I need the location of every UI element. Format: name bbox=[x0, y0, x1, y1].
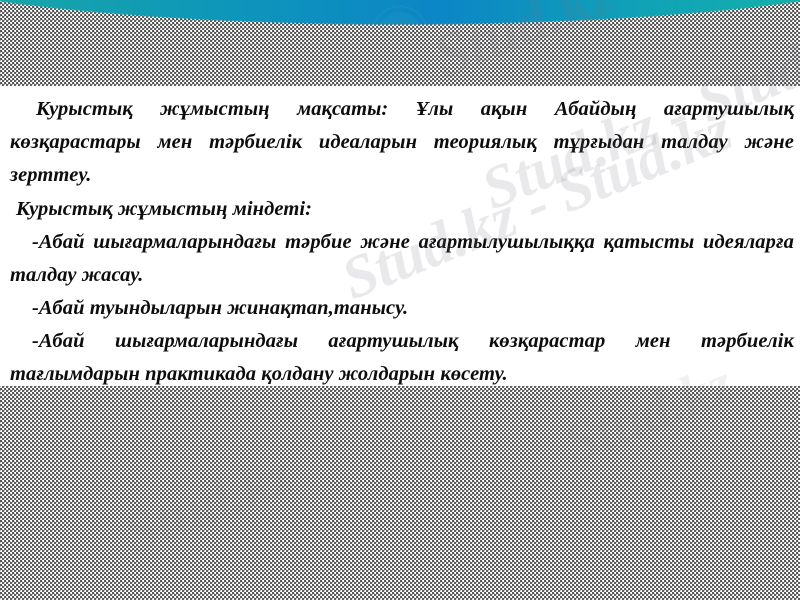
slide-canvas: Курыстық жұмыстың мақсаты: Ұлы ақын Абай… bbox=[0, 0, 800, 600]
header-dither-overlay bbox=[0, 0, 800, 88]
slide-footer-panel bbox=[0, 386, 800, 600]
list-item: -Абай шығармаларындағы ағартушылық көзқа… bbox=[0, 325, 800, 391]
slide-body: Курыстық жұмыстың мақсаты: Ұлы ақын Абай… bbox=[0, 86, 800, 386]
slide-header-band bbox=[0, 0, 800, 88]
list-item: -Абай туындыларын жинақтап,танысу. bbox=[0, 292, 800, 325]
paragraph-task-heading: Курыстық жұмыстың міндеті: bbox=[0, 192, 800, 226]
paragraph-goal: Курыстық жұмыстың мақсаты: Ұлы ақын Абай… bbox=[0, 86, 800, 192]
list-item: -Абай шығармаларындағы тәрбие және ағарт… bbox=[0, 226, 800, 292]
